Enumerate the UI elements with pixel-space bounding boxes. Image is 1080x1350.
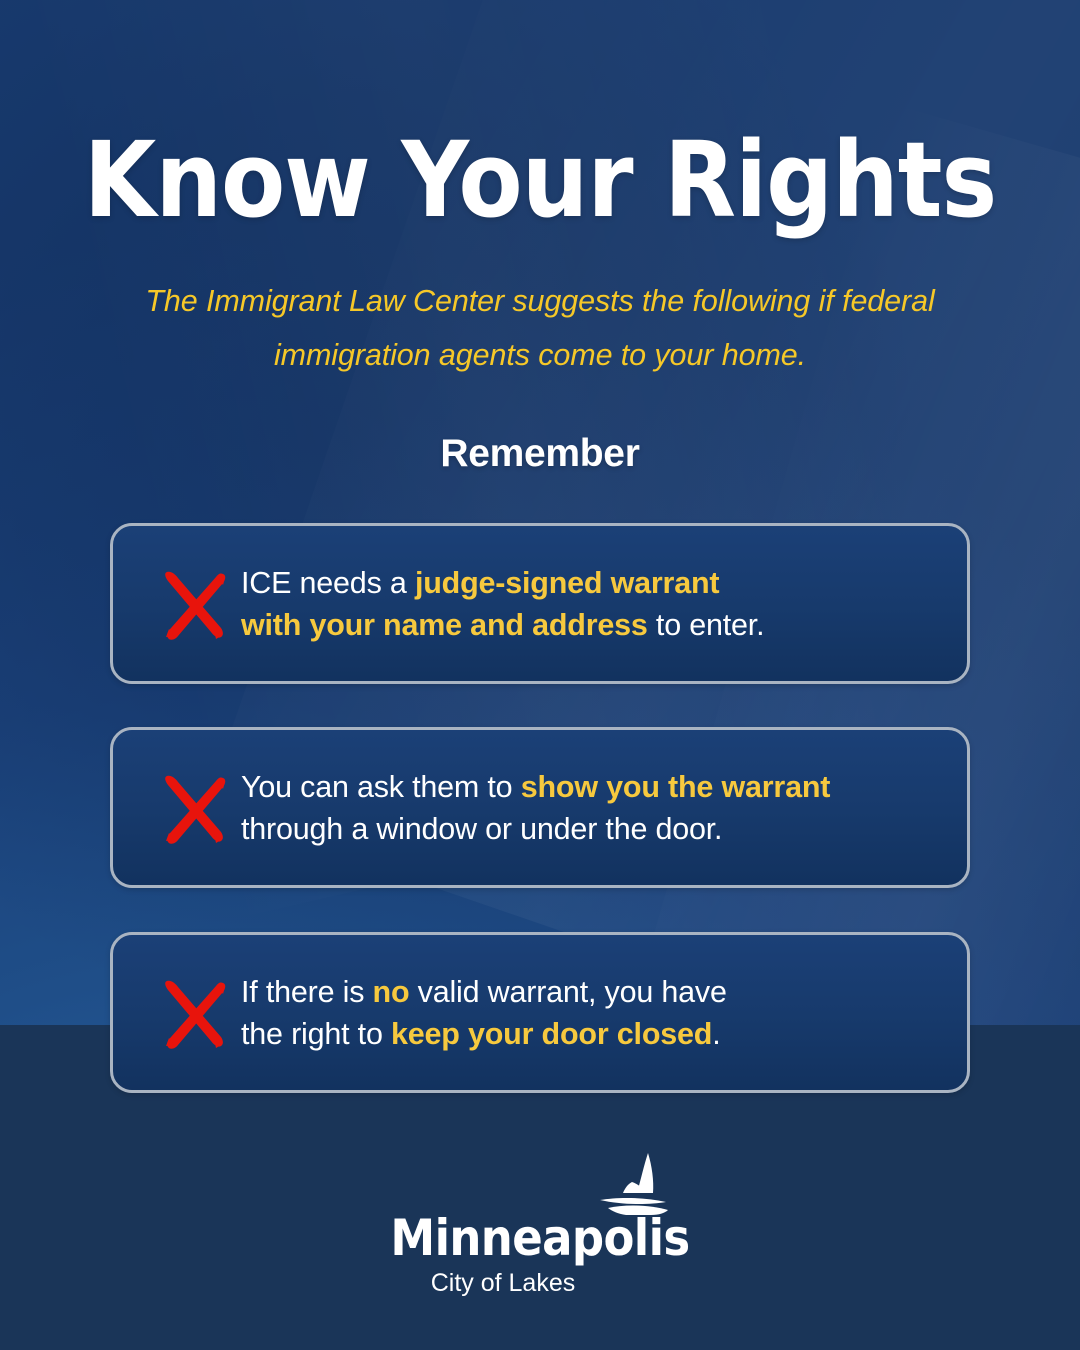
text-run: If there is <box>241 975 373 1009</box>
text-run-emphasis: with your name and address <box>241 608 648 642</box>
text-run: through a window or under the door. <box>241 812 722 846</box>
red-x-mark-icon <box>113 566 241 642</box>
red-x-mark-icon <box>113 975 241 1051</box>
rights-card-line: You can ask them to show you the warrant <box>241 766 937 808</box>
poster-content: Know Your Rights The Immigrant Law Cente… <box>0 0 1080 1350</box>
text-run: . <box>712 1017 720 1051</box>
text-run: valid warrant, you have <box>409 975 726 1009</box>
text-run-emphasis: judge-signed warrant <box>415 566 719 600</box>
rights-card-line: the right to keep your door closed. <box>241 1013 937 1055</box>
text-run: the right to <box>241 1017 391 1051</box>
rights-card-line: If there is no valid warrant, you have <box>241 971 937 1013</box>
subtitle-line-1: The Immigrant Law Center suggests the fo… <box>145 284 934 318</box>
page-title: Know Your Rights <box>0 128 1080 232</box>
red-x-mark-icon <box>113 770 241 846</box>
text-run-emphasis: no <box>373 975 410 1009</box>
rights-card-text: ICE needs a judge-signed warrant with yo… <box>241 562 967 646</box>
rights-card-line: through a window or under the door. <box>241 808 937 850</box>
rights-card-line: with your name and address to enter. <box>241 604 937 646</box>
rights-card-line: ICE needs a judge-signed warrant <box>241 562 937 604</box>
rights-card-text: If there is no valid warrant, you have t… <box>241 971 967 1055</box>
logo-tagline: City of Lakes <box>431 1268 576 1298</box>
section-heading-remember: Remember <box>0 432 1080 476</box>
rights-card: You can ask them to show you the warrant… <box>110 727 970 888</box>
rights-card: ICE needs a judge-signed warrant with yo… <box>110 523 970 684</box>
logo-mark-row <box>410 1152 670 1220</box>
sailboat-icon <box>596 1152 670 1223</box>
text-run: to enter. <box>648 608 765 642</box>
subtitle-line-2: immigration agents come to your home. <box>274 338 806 372</box>
text-run-emphasis: keep your door closed <box>391 1017 712 1051</box>
text-run-emphasis: show you the warrant <box>521 770 831 804</box>
text-run: ICE needs a <box>241 566 415 600</box>
poster-root: Know Your Rights The Immigrant Law Cente… <box>0 0 1080 1350</box>
text-run: You can ask them to <box>241 770 521 804</box>
page-subtitle: The Immigrant Law Center suggests the fo… <box>118 274 962 382</box>
minneapolis-logo: Minneapolis City of Lakes <box>0 1152 1080 1298</box>
rights-card: If there is no valid warrant, you have t… <box>110 932 970 1093</box>
rights-card-text: You can ask them to show you the warrant… <box>241 766 967 850</box>
